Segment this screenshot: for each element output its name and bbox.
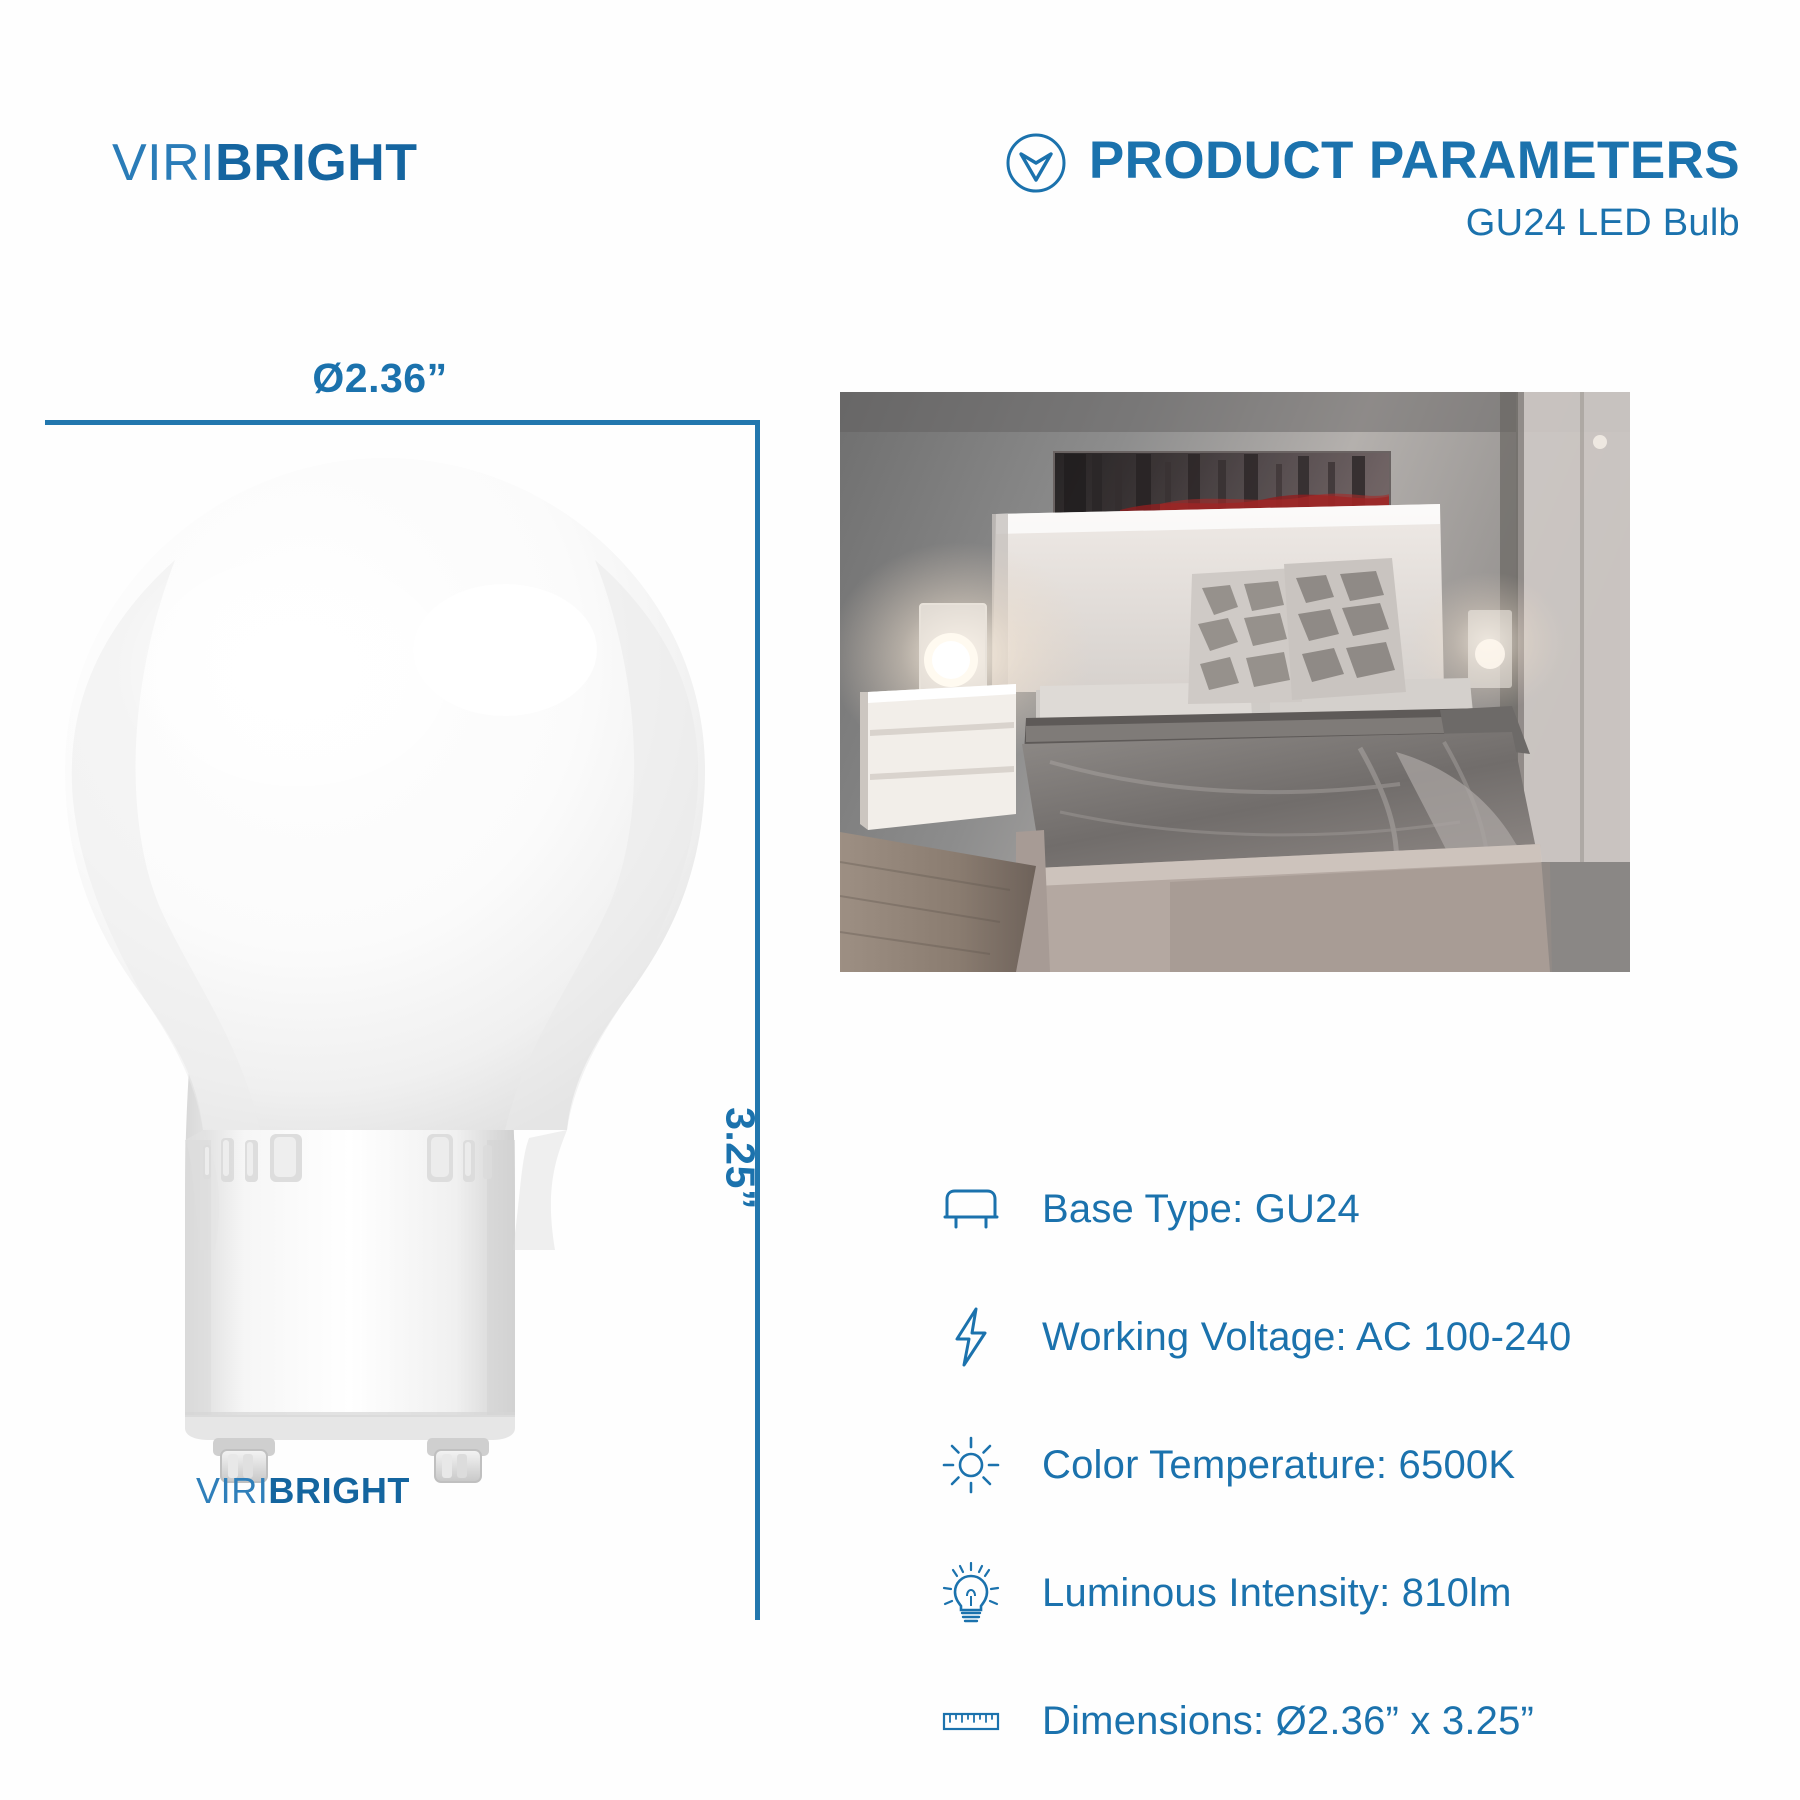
spec-row-base-type: Base Type: GU24 (940, 1145, 1740, 1273)
gu24-base-icon (940, 1187, 1002, 1231)
brand-logo-viri: VIRI (112, 134, 215, 192)
bulb-logo-bright: BRIGHT (268, 1470, 410, 1511)
page-title: PRODUCT PARAMETERS (1089, 133, 1740, 189)
spec-list: Base Type: GU24 Working Voltage: AC 100-… (940, 1145, 1740, 1785)
spec-row-working-voltage: Working Voltage: AC 100-240 (940, 1273, 1740, 1401)
sun-icon (940, 1436, 1002, 1494)
page-subtitle: GU24 LED Bulb (860, 202, 1740, 245)
dimension-line-vertical (755, 420, 760, 1620)
lightning-bolt-icon (940, 1307, 1002, 1367)
spec-row-color-temperature: Color Temperature: 6500K (940, 1401, 1740, 1529)
bulb-printed-logo: VIRIBRIGHT (196, 1473, 410, 1509)
circle-chevron-down-icon (1005, 132, 1067, 194)
diameter-dimension-label: Ø2.36” (0, 355, 760, 402)
spec-label-working-voltage: Working Voltage: AC 100-240 (1042, 1315, 1571, 1360)
spec-label-color-temperature: Color Temperature: 6500K (1042, 1443, 1515, 1488)
product-parameters-infographic: VIRIBRIGHT PRODUCT PARAMETERS GU24 LED B… (0, 0, 1800, 1800)
spec-label-base-type: Base Type: GU24 (1042, 1187, 1360, 1232)
brand-logo-bright: BRIGHT (215, 134, 417, 192)
bulb-logo-viri: VIRI (196, 1470, 268, 1511)
bedroom-application-photo (840, 392, 1630, 972)
spec-label-dimensions: Dimensions: Ø2.36” x 3.25” (1042, 1699, 1534, 1744)
light-bulb-rays-icon (940, 1562, 1002, 1624)
header: PRODUCT PARAMETERS GU24 LED Bulb (860, 128, 1740, 245)
spec-label-luminous-intensity: Luminous Intensity: 810lm (1042, 1571, 1512, 1616)
dimension-line-horizontal (45, 420, 760, 425)
bulb-product-image (35, 440, 735, 1570)
brand-logo: VIRIBRIGHT (112, 137, 417, 189)
spec-row-luminous-intensity: Luminous Intensity: 810lm (940, 1529, 1740, 1657)
ruler-icon (940, 1708, 1002, 1734)
spec-row-dimensions: Dimensions: Ø2.36” x 3.25” (940, 1657, 1740, 1785)
